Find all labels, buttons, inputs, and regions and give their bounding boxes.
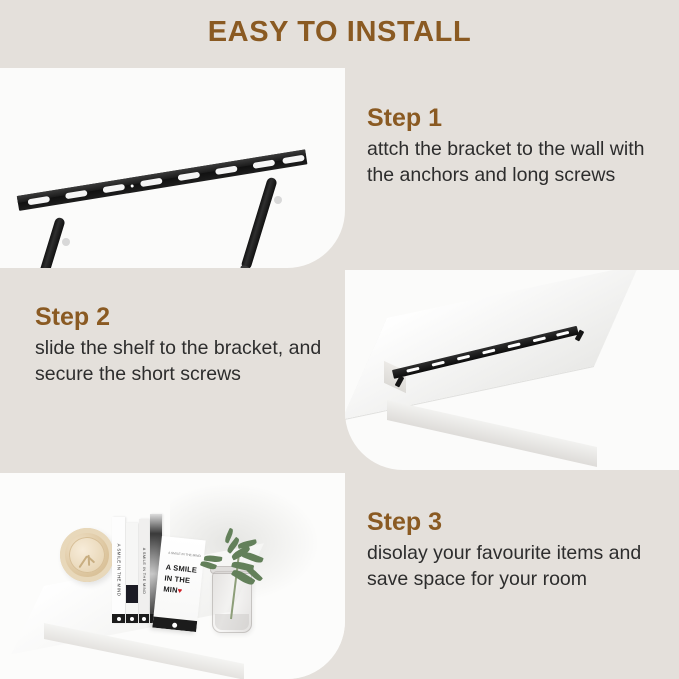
shelf-on-bracket-photo xyxy=(345,270,679,470)
bracket-slot xyxy=(457,354,470,361)
book-band xyxy=(126,585,138,603)
bracket-slot xyxy=(533,336,546,343)
bracket-slot xyxy=(482,348,495,355)
front-book-title: A SMILE IN THE MIN♥ xyxy=(163,563,198,599)
easy-to-install-infographic: EASY TO INSTALL xyxy=(0,0,679,679)
book-spine: A SMILE IN THE MIND xyxy=(139,519,149,623)
bracket-slot xyxy=(406,366,419,373)
front-book-subtitle: A SMILE IN THE MIND xyxy=(168,551,201,558)
bracket-slot xyxy=(431,360,444,367)
bracket-screw-hole xyxy=(130,184,133,187)
styled-shelf-photo: A SMILE IN THE MIND A SMILE IN THE MIND … xyxy=(0,473,345,679)
book-foot-band xyxy=(112,614,125,623)
bracket-support-rod-left xyxy=(28,217,65,268)
heart-icon: ♥ xyxy=(177,586,183,595)
step-2-body: slide the shelf to the bracket, and secu… xyxy=(35,336,335,388)
vase-water-line xyxy=(215,614,249,630)
clock-face xyxy=(67,535,107,575)
book-spine: A SMILE IN THE MIND xyxy=(112,517,125,623)
book-spine-text: A SMILE IN THE MIND xyxy=(142,548,146,595)
step-2-image-panel xyxy=(345,270,679,470)
bracket-support-rod-right xyxy=(240,177,277,268)
step-3-heading: Step 3 xyxy=(367,508,672,536)
step-1-image-panel xyxy=(0,68,345,268)
rod-collar-left xyxy=(62,238,70,246)
clock-minute-hand xyxy=(78,555,87,568)
bracket-slot xyxy=(507,342,520,349)
wall-bracket-photo xyxy=(0,68,345,268)
step-2-text: Step 2 slide the shelf to the bracket, a… xyxy=(35,303,335,388)
book-foot-band xyxy=(139,614,149,623)
shelf-top-surface xyxy=(345,270,639,420)
step-1-text: Step 1 attch the bracket to the wall wit… xyxy=(367,104,667,189)
step-3-image-panel: A SMILE IN THE MIND A SMILE IN THE MIND … xyxy=(0,473,345,679)
book-foot-band xyxy=(126,614,138,623)
clock-second-hand xyxy=(87,555,89,566)
step-3-body: disolay your favourite items and save sp… xyxy=(367,541,672,593)
shelf-front-edge xyxy=(387,400,597,467)
rod-collar-right xyxy=(274,196,282,204)
bracket-slot xyxy=(556,330,569,337)
page-title: EASY TO INSTALL xyxy=(0,16,679,49)
book-spine-text: A SMILE IN THE MIND xyxy=(116,544,121,597)
rod-end-cap xyxy=(240,265,251,268)
step-3-text: Step 3 disolay your favourite items and … xyxy=(367,508,672,593)
front-book-foot-band xyxy=(152,617,197,633)
front-book-title-line-3: MIN♥ xyxy=(163,584,196,598)
book-spine xyxy=(126,523,138,623)
step-1-heading: Step 1 xyxy=(367,104,667,132)
step-2-heading: Step 2 xyxy=(35,303,335,331)
shelf-front-edge xyxy=(44,623,244,679)
step-1-body: attch the bracket to the wall with the a… xyxy=(367,137,667,189)
